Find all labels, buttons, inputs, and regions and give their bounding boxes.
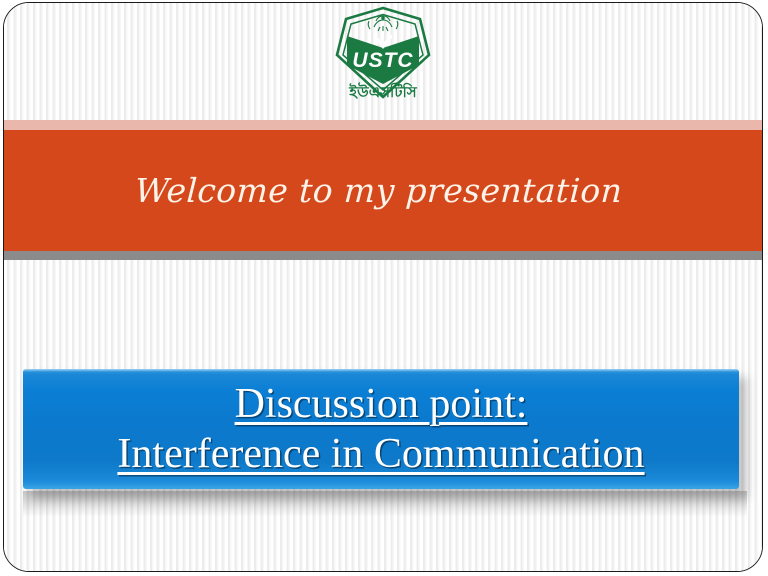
banner-top-accent-band <box>4 120 762 130</box>
banner-bottom-accent-band <box>4 251 762 260</box>
title-line-2: Interference in Communication <box>117 432 644 476</box>
welcome-text: Welcome to my presentation <box>134 171 623 210</box>
logo-acronym-text: USTC <box>352 49 413 72</box>
logo-container: USTC ইউএসটিসি <box>4 5 762 121</box>
discussion-title-box: Discussion point: Interference in Commun… <box>23 369 739 489</box>
title-line-1: Discussion point: <box>235 382 528 426</box>
presentation-slide: USTC ইউএসটিসি Welcome to my presentation… <box>3 2 763 572</box>
logo-script-text: ইউএসটিসি <box>348 82 418 101</box>
welcome-banner: Welcome to my presentation <box>4 130 762 251</box>
ustc-shield-logo: USTC ইউএসটিসি <box>322 5 444 119</box>
